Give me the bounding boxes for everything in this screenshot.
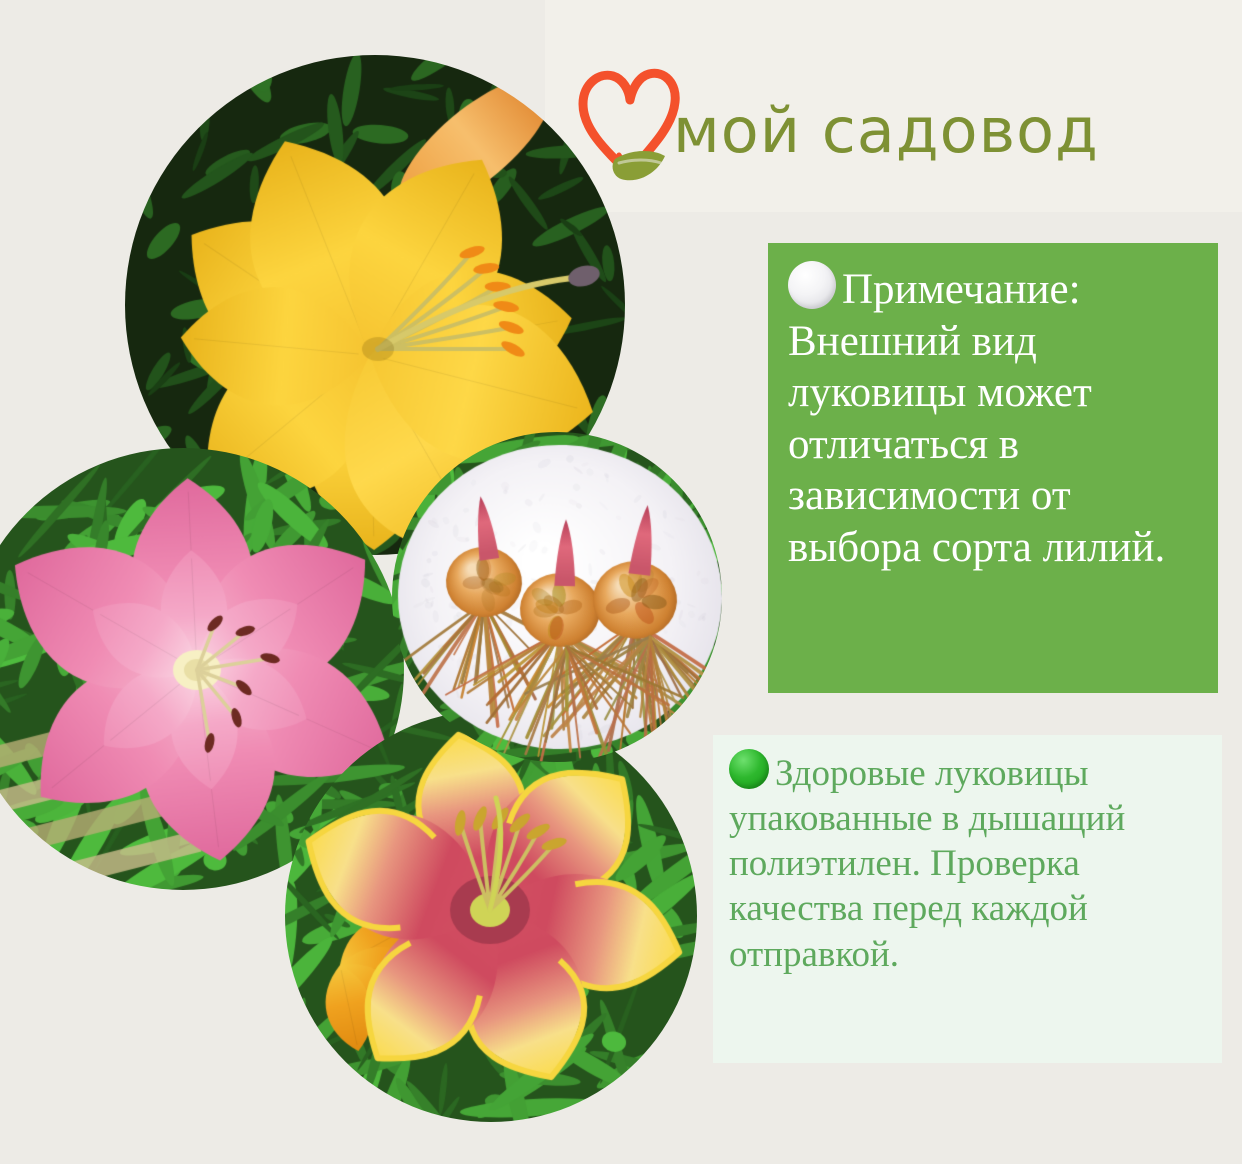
logo-mark: [575, 62, 683, 192]
photo-lily-bulbs: [392, 432, 722, 762]
quality-box: Здоровые луковицы упакованные в дышащий …: [713, 735, 1222, 1063]
quality-box-body: Здоровые луковицы упакованные в дышащий …: [729, 749, 1208, 977]
white-circle-icon: [788, 261, 836, 309]
note-box: Примечание: Внешний вид луковицы может о…: [768, 243, 1218, 693]
photo-bicolor-lily: [285, 710, 697, 1122]
heart-leaf-icon: [575, 62, 683, 192]
note-text: Внешний вид луковицы может отличаться в …: [788, 318, 1165, 571]
note-box-body: Примечание: Внешний вид луковицы может о…: [788, 261, 1194, 574]
brand-logo[interactable]: мой садовод: [575, 52, 1215, 202]
green-circle-icon: [729, 749, 769, 789]
poster-canvas: мой садовод Примечание: Внешний вид луко…: [0, 0, 1242, 1164]
brand-name: мой садовод: [673, 100, 1099, 162]
quality-text: Здоровые луковицы упакованные в дышащий …: [729, 753, 1125, 975]
note-heading: Примечание:: [842, 266, 1081, 313]
